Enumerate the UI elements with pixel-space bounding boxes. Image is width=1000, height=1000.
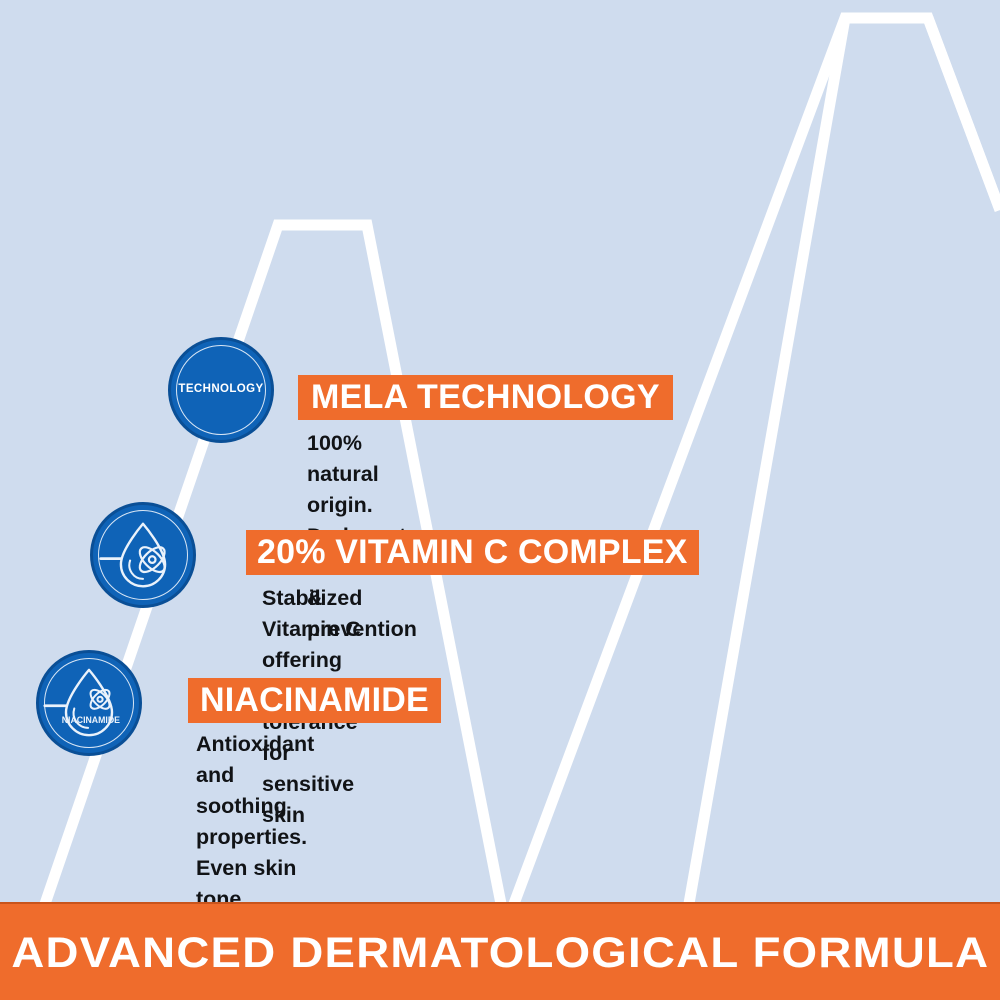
banner-title: ADVANCED DERMATOLOGICAL FORMULA (11, 929, 989, 978)
feature-tag-2: 20% VITAMIN C COMPLEX (246, 530, 699, 575)
feature-tag-3: NIACINAMIDE (188, 678, 441, 723)
badge-label: NIACINAMIDE (62, 715, 120, 725)
feature-description-3: Antioxidant and soothing properties. Eve… (196, 729, 314, 915)
badge-niacinamide[interactable]: NIACINAMIDE (36, 650, 142, 756)
badge-label: TECHNOLOGY (178, 384, 263, 396)
feature-tag-label: NIACINAMIDE (200, 681, 429, 720)
feature-tag-label: 20% VITAMIN C COMPLEX (257, 533, 688, 572)
feature-tag-1: MELA TECHNOLOGY (298, 375, 673, 420)
droplet-atom-icon (97, 509, 189, 601)
infographic-canvas: TECHNOLOGY MELA TECHNOLOGY 100% natural … (0, 0, 1000, 1000)
mountain-chevron-lines-icon (0, 0, 1000, 1000)
droplet-niacinamide-icon: NIACINAMIDE (43, 657, 135, 749)
feature-tag-label: MELA TECHNOLOGY (311, 378, 660, 417)
badge-vitamin-c[interactable] (90, 502, 196, 608)
bottom-banner: ADVANCED DERMATOLOGICAL FORMULA (0, 902, 1000, 1000)
badge-technology[interactable]: TECHNOLOGY (168, 337, 274, 443)
